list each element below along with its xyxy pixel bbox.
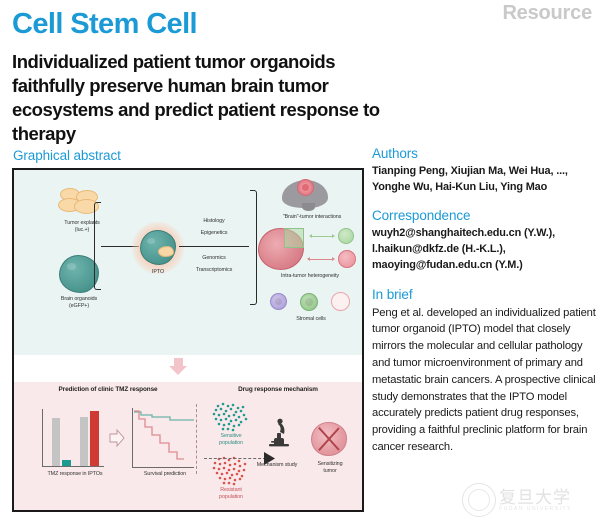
- correspondence-heading: Correspondence: [372, 208, 596, 223]
- bracket-left: [94, 202, 101, 290]
- bar-chart-x-axis: [42, 466, 104, 467]
- bar-control-b: [80, 417, 88, 466]
- in-brief-heading: In brief: [372, 287, 596, 302]
- label-stromal-cells: Stromal cells: [264, 316, 358, 323]
- watermark-seal-icon: [462, 483, 496, 517]
- label-brain-tumor-interactions: "Brain"-tumor interactions: [262, 214, 362, 221]
- microscope-icon: [267, 418, 293, 448]
- authors-heading: Authors: [372, 146, 596, 161]
- subclone-green-cell: [338, 228, 354, 244]
- figure-panel-gap: [14, 355, 362, 382]
- label-tumor-explants: Tumor explants (luc.+): [36, 220, 128, 234]
- correspondence-block: Correspondence wuyh2@shanghaitech.edu.cn…: [372, 208, 596, 273]
- label-tmz-response: TMZ response in IPTOs: [22, 471, 128, 478]
- authors-list: Tianping Peng, Xiujian Ma, Wei Hua, ...,…: [372, 164, 596, 195]
- brain-organoid-illustration: [59, 255, 99, 293]
- panel-divider-dashed: [196, 404, 197, 474]
- paper-cover-page: Cell Stem Cell Resource Individualized p…: [0, 0, 600, 524]
- watermark-chinese-name: 复旦大学: [499, 489, 572, 506]
- arrow-red-bidirectional: [310, 259, 332, 260]
- heterogeneity-region-highlight: [284, 228, 304, 248]
- watermark-english-name: FUDAN UNIVERSITY: [499, 506, 572, 512]
- subclone-pink-cell: [338, 250, 356, 268]
- survival-curves-svg: [132, 408, 196, 468]
- figure-panel-top: Tumor explants (luc.+) Brain organoids (…: [14, 170, 362, 355]
- metadata-column: Authors Tianping Peng, Xiujian Ma, Wei H…: [372, 146, 596, 456]
- scatter-sensitive-population: [210, 400, 252, 432]
- label-prediction-title: Prediction of clinic TMZ response: [28, 386, 188, 394]
- label-resistant-population: Resistant population: [204, 487, 258, 501]
- brain-stem: [302, 203, 315, 211]
- graphical-abstract-heading: Graphical abstract: [13, 148, 121, 163]
- article-type-label: Resource: [502, 2, 592, 25]
- stromal-cell-purple: [270, 293, 287, 310]
- bracket-right: [250, 190, 257, 305]
- page-title: Individualized patient tumor organoids f…: [12, 50, 382, 146]
- ipto-organoid-illustration: [140, 230, 176, 265]
- bar-chart-y-axis: [42, 409, 43, 467]
- graphical-abstract-figure: Tumor explants (luc.+) Brain organoids (…: [12, 168, 364, 512]
- journal-title: Cell Stem Cell: [12, 8, 197, 41]
- connector-to-omics: [179, 246, 249, 247]
- label-sensitive-population: Sensitive population: [204, 433, 258, 447]
- arrow-green-bidirectional: [312, 236, 332, 237]
- mechanism-dashed-arrow-line: [204, 458, 266, 459]
- brain-tumor-spot: [297, 179, 314, 196]
- in-brief-text: Peng et al. developed an individualized …: [372, 305, 596, 456]
- label-mechanism-title: Drug response mechanism: [200, 386, 356, 394]
- bar-tmz-a: [62, 460, 71, 466]
- stromal-cell-green: [300, 293, 318, 311]
- label-sensitizing-tumor: Sensitizing tumor: [304, 461, 356, 475]
- label-intra-tumor-heterogeneity: Intra-tumor heterogeneity: [258, 273, 362, 280]
- label-brain-organoids: Brain organoids (eGFP+): [33, 296, 125, 310]
- block-arrow-right-icon: [109, 429, 125, 447]
- university-watermark: 复旦大学 FUDAN UNIVERSITY: [462, 480, 590, 520]
- in-brief-block: In brief Peng et al. developed an indivi…: [372, 287, 596, 456]
- bar-tmz-b: [90, 411, 99, 466]
- transition-arrow-head: [169, 366, 187, 375]
- bar-control-a: [52, 418, 60, 466]
- figure-panel-bottom: Prediction of clinic TMZ response Drug r…: [14, 382, 362, 510]
- label-histology: Histology: [181, 218, 247, 225]
- authors-block: Authors Tianping Peng, Xiujian Ma, Wei H…: [372, 146, 596, 195]
- label-genomics: Genomics: [181, 255, 247, 262]
- label-ipto: IPTO: [134, 269, 182, 276]
- stromal-cell-ring: [331, 292, 350, 311]
- correspondence-emails[interactable]: wuyh2@shanghaitech.edu.cn (Y.W.), l.haik…: [372, 226, 596, 273]
- transition-arrow-stem: [174, 358, 183, 366]
- label-survival-prediction: Survival prediction: [126, 471, 204, 478]
- label-transcriptomics: Transcriptomics: [181, 267, 247, 274]
- label-epigenetics: Epigenetics: [181, 230, 247, 237]
